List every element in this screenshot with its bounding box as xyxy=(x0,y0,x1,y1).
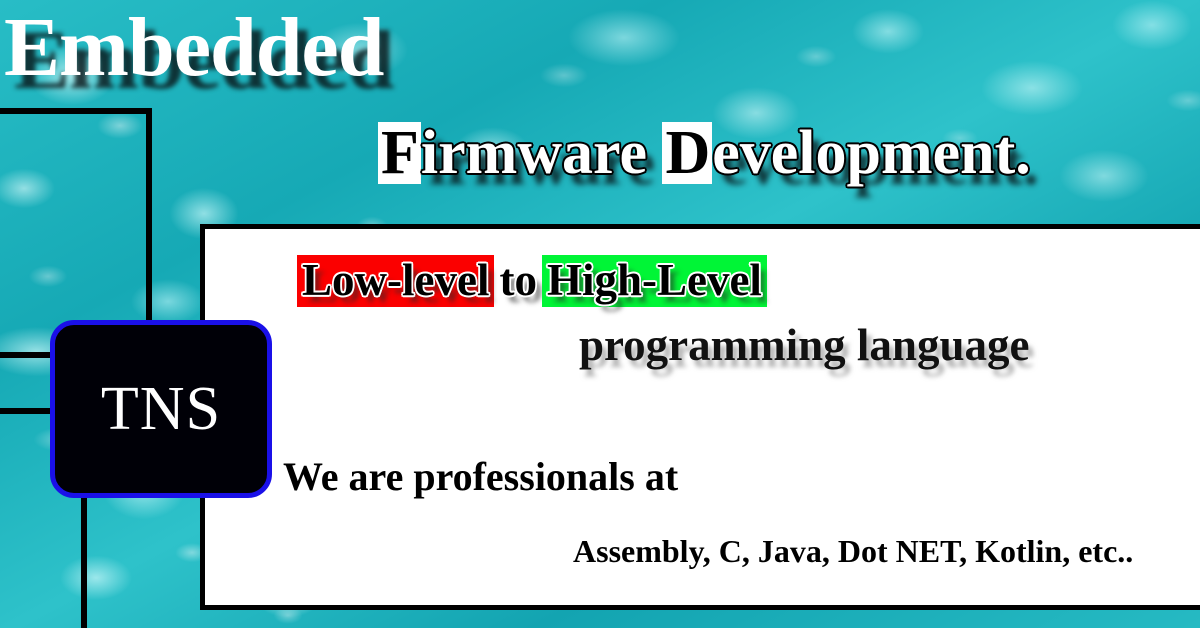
headline-firmware-rest: irmware xyxy=(421,119,647,187)
tagline-connector: to xyxy=(494,255,542,307)
tagline-language-list: Assembly, C, Java, Dot NET, Kotlin, etc.… xyxy=(573,535,1133,567)
highlight-high-level: High-Level xyxy=(542,255,767,307)
headline-space xyxy=(647,119,663,187)
poster-root: Embedded Firmware Development. Low-level… xyxy=(0,0,1200,628)
tagline-professionals: We are professionals at xyxy=(283,457,678,497)
headline-cap-d: D xyxy=(662,122,712,184)
headline-development-rest: evelopment. xyxy=(712,119,1031,187)
tns-logo-badge: TNS xyxy=(50,320,272,498)
frame-line-top-vertical xyxy=(146,108,152,323)
headline-firmware-development: Firmware Development. xyxy=(378,122,1031,184)
content-panel: Low-level to High-Level programming lang… xyxy=(200,224,1200,610)
highlight-low-level: Low-level xyxy=(297,255,494,307)
tagline-levels: Low-level to High-Level xyxy=(297,255,767,307)
tns-logo-text: TNS xyxy=(101,378,221,440)
tagline-programming-language: programming language xyxy=(579,322,1029,369)
frame-line-top-horizontal xyxy=(0,108,152,114)
headline-embedded: Embedded xyxy=(4,6,383,90)
headline-cap-f: F xyxy=(378,122,421,184)
frame-line-bottom-vertical xyxy=(81,498,87,628)
